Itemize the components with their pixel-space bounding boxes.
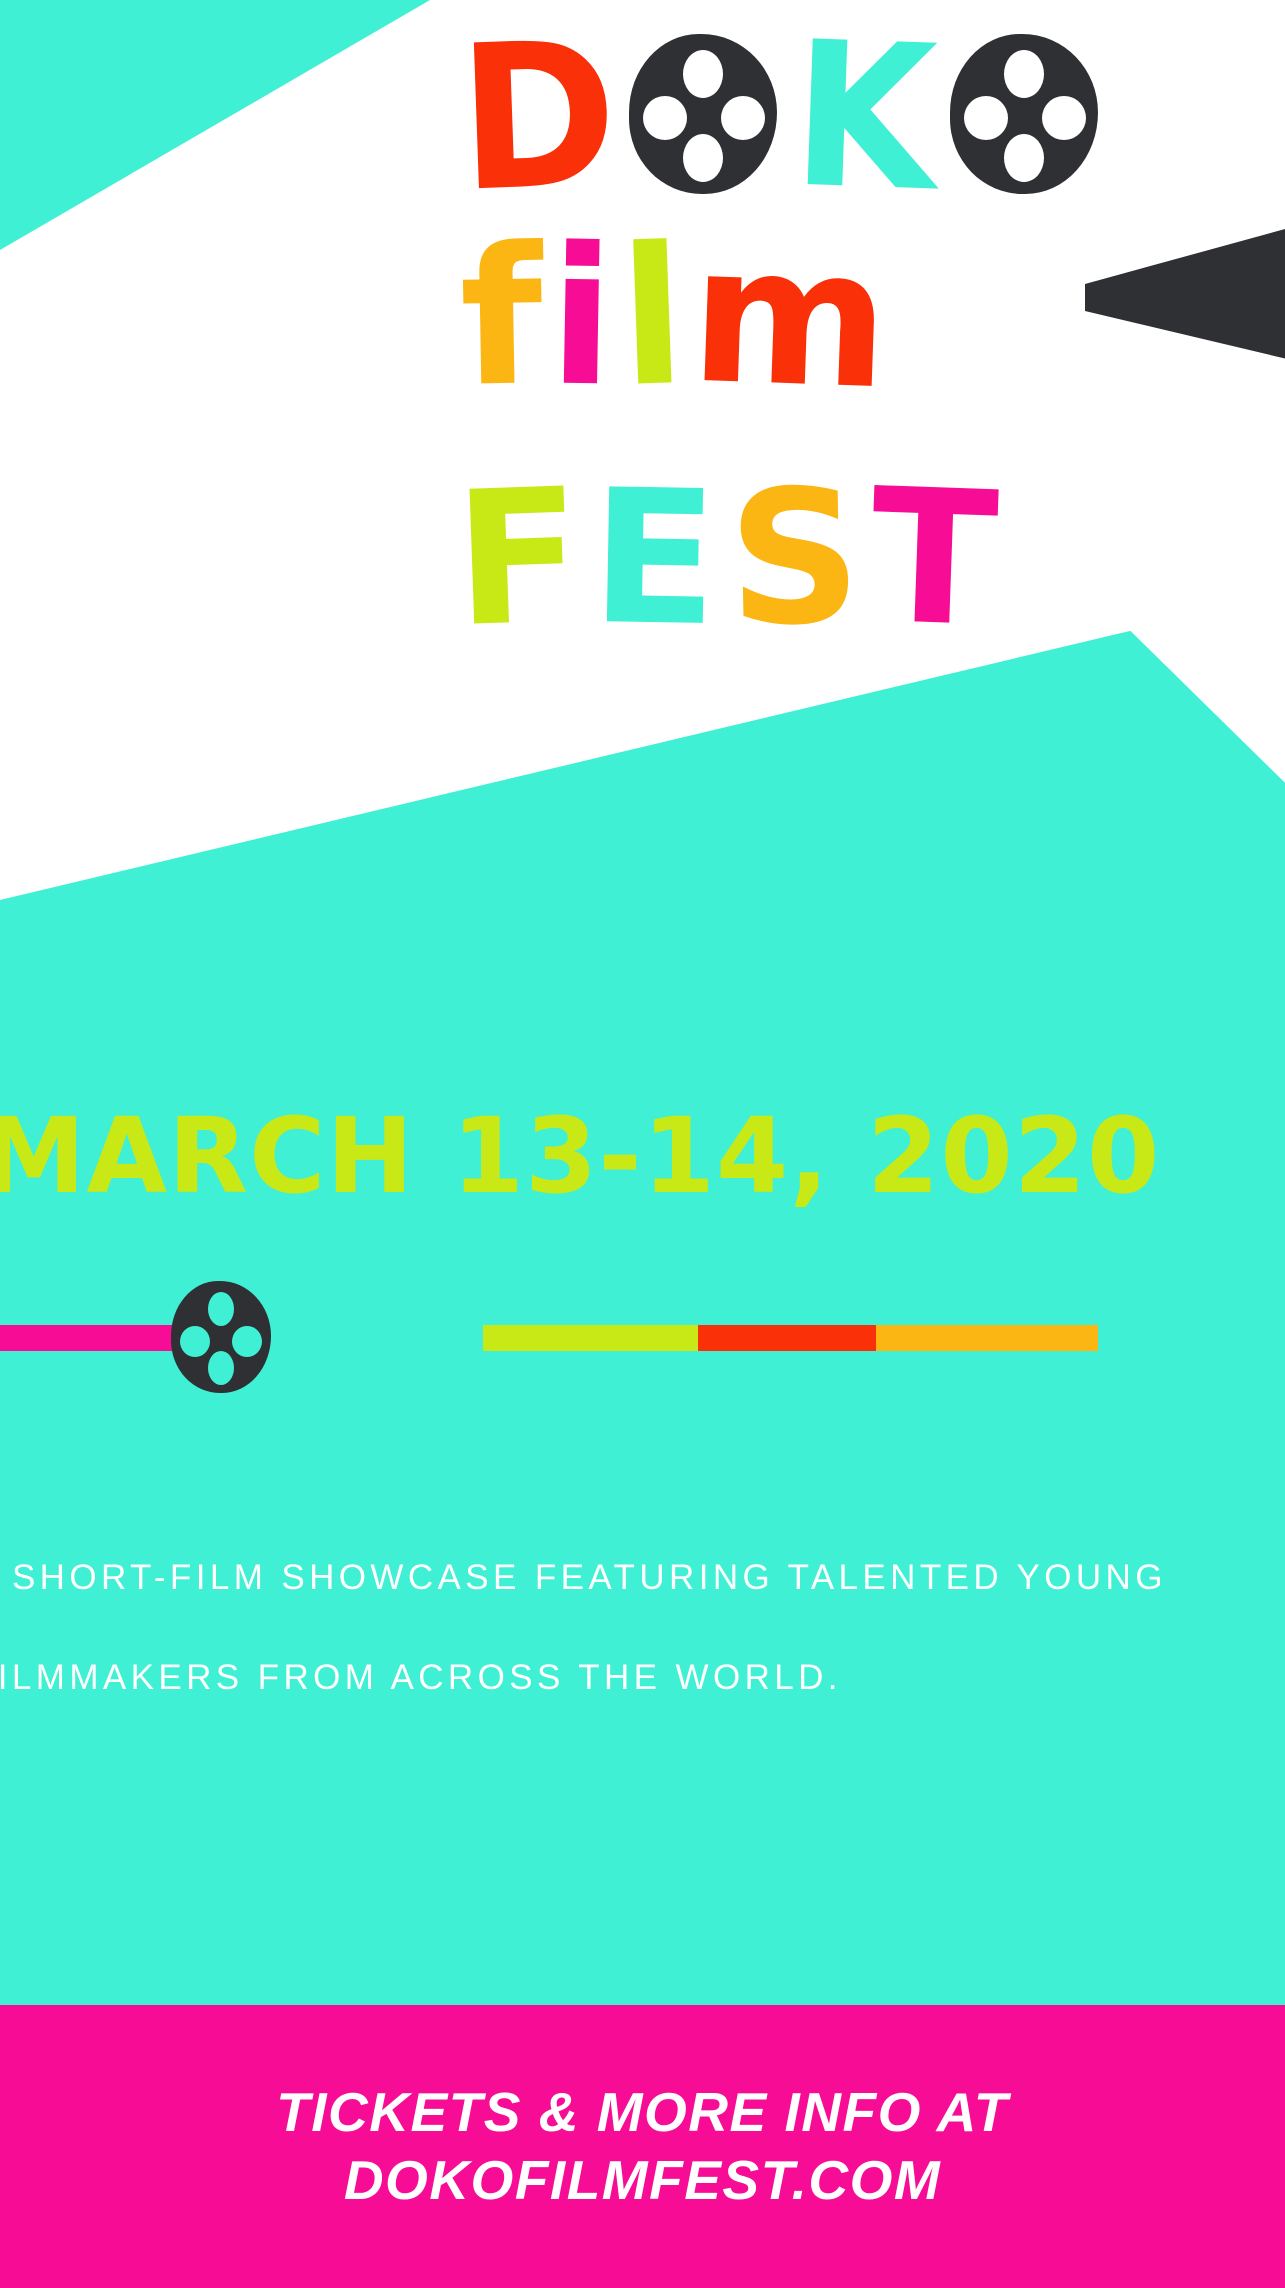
logo-row-film: f i l m <box>460 232 887 403</box>
divider-bar-lime <box>483 1325 698 1351</box>
logo-letter-t: T <box>868 473 998 644</box>
footer-banner: TICKETS & MORE INFO AT DOKOFILMFEST.COM <box>0 2005 1285 2288</box>
logo-letter-e: E <box>590 474 717 643</box>
reel-hole-right <box>1042 96 1086 140</box>
reel-hole-top <box>1004 50 1044 98</box>
reel-hole-right <box>232 1326 262 1357</box>
reel-hole-top <box>208 1292 234 1326</box>
reel-hole-bottom <box>683 134 723 182</box>
reel-hole-bottom <box>1004 134 1044 182</box>
footer-line-2[interactable]: DOKOFILMFEST.COM <box>344 2147 941 2214</box>
film-reel-icon <box>171 1281 271 1393</box>
logo-letter-m: m <box>688 229 890 407</box>
logo-row-fest: F E S T <box>455 475 995 642</box>
footer-line-1: TICKETS & MORE INFO AT <box>276 2079 1009 2146</box>
event-description-line-1: A SHORT-FILM SHOWCASE FEATURING TALENTED… <box>0 1528 1285 1628</box>
event-description: A SHORT-FILM SHOWCASE FEATURING TALENTED… <box>0 1528 1285 1728</box>
reel-hole-bottom <box>208 1351 234 1385</box>
reel-hole-left <box>180 1326 210 1357</box>
event-date-headline: MARCH 13-14, 2020 <box>0 1104 1285 1208</box>
reel-hole-left <box>643 96 687 140</box>
reel-hole-left <box>964 96 1008 140</box>
logo-letter-s: S <box>726 474 860 643</box>
divider-bar-magenta <box>0 1325 188 1351</box>
logo-letter-f-upper: F <box>452 473 582 644</box>
event-description-line-2: FILMMAKERS FROM ACROSS THE WORLD. <box>0 1628 1285 1728</box>
film-reel-icon <box>629 34 777 194</box>
poster-canvas: D K f i l m F E S T <box>0 0 1285 2288</box>
logo-letter-l: l <box>617 231 686 404</box>
logo-letter-f-lower: f <box>459 231 543 403</box>
logo-letter-d: D <box>456 25 618 210</box>
reel-hole-right <box>721 96 765 140</box>
divider-bar-amber <box>876 1325 1098 1351</box>
logo-wordmark: D K f i l m F E S T <box>0 0 1285 700</box>
divider-bar-red <box>698 1325 876 1351</box>
logo-letter-k: K <box>790 26 937 211</box>
logo-row-doko: D K <box>455 28 1102 208</box>
film-reel-icon <box>950 34 1098 194</box>
reel-hole-top <box>683 50 723 98</box>
logo-letter-i: i <box>547 231 613 403</box>
